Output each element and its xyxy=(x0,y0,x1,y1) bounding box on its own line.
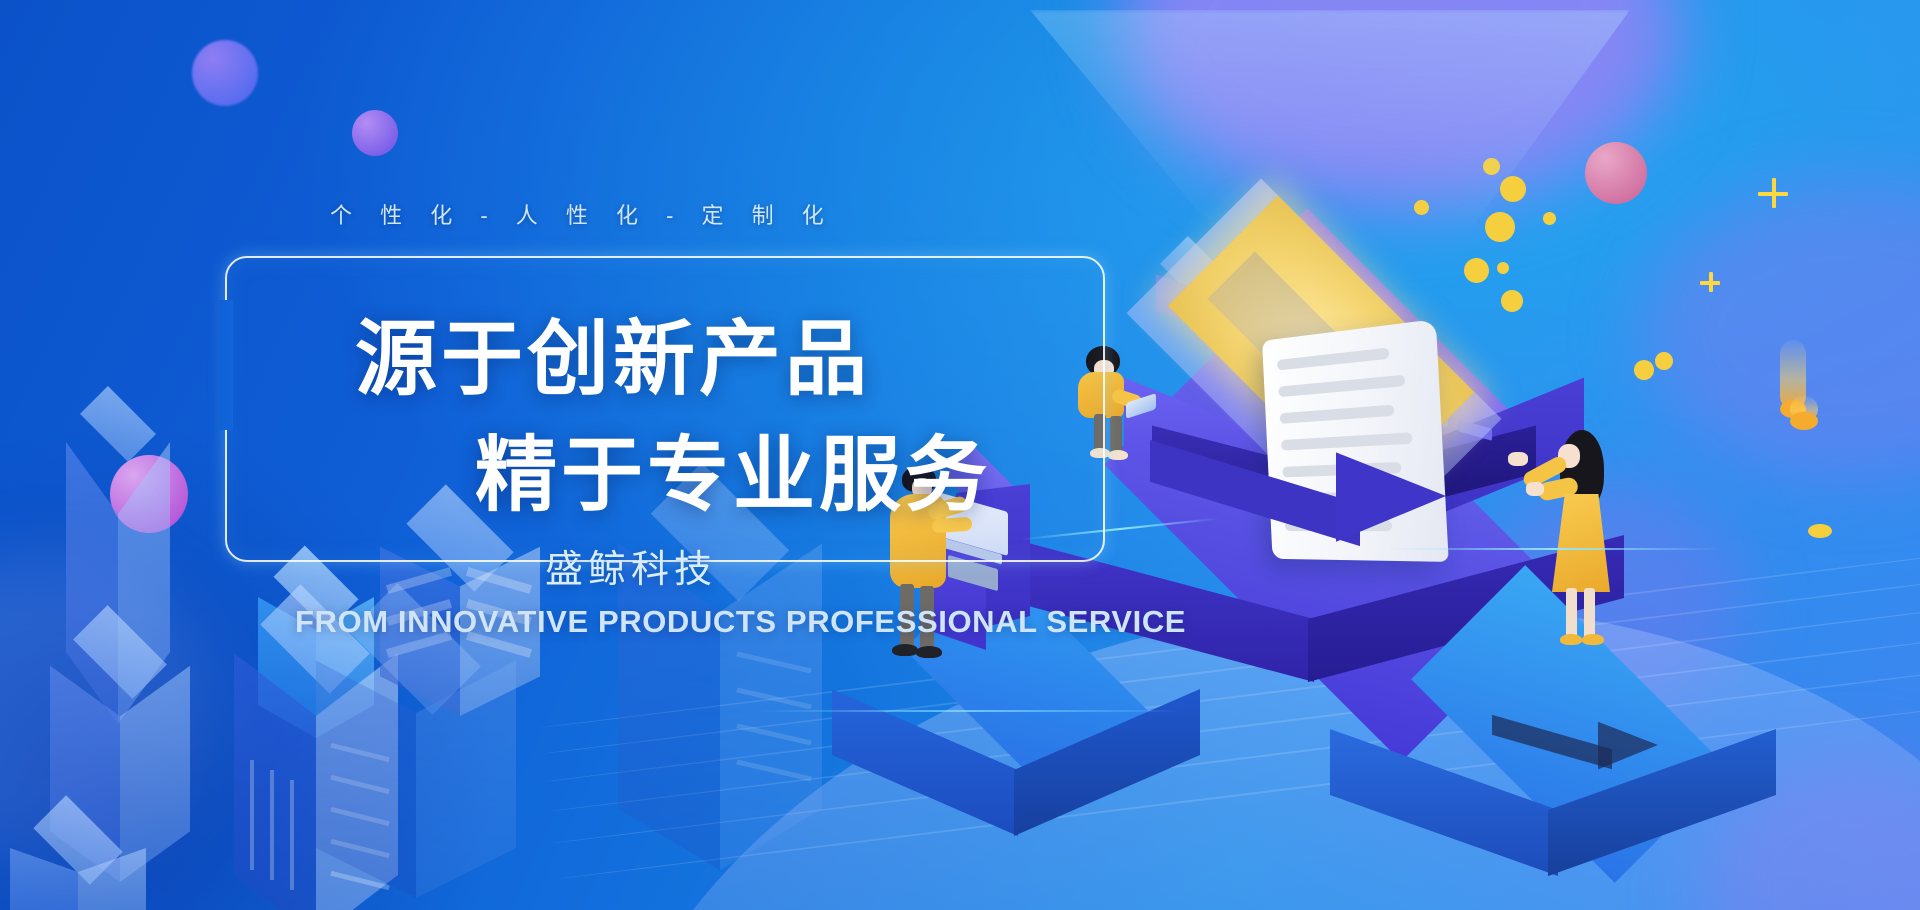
hero-copy-block: 个 性 化 - 人 性 化 - 定 制 化 源于创新产品 精于专业服务 盛鲸科技… xyxy=(0,0,1100,700)
neon-edge-line xyxy=(760,710,1180,712)
hero-banner: 个 性 化 - 人 性 化 - 定 制 化 源于创新产品 精于专业服务 盛鲸科技… xyxy=(0,0,1920,910)
tagline: 个 性 化 - 人 性 化 - 定 制 化 xyxy=(330,198,835,230)
brand-name: 盛鲸科技 xyxy=(545,538,717,593)
headline-line-2: 精于专业服务 xyxy=(475,408,991,527)
english-subtitle: FROM INNOVATIVE PRODUCTS PROFESSIONAL SE… xyxy=(295,604,1186,640)
isometric-arrow-large xyxy=(1150,436,1480,566)
headline-line-1: 源于创新产品 xyxy=(355,292,871,411)
frame-gap-left xyxy=(219,300,233,430)
neon-edge-line xyxy=(1390,548,1720,550)
woman-holding-document xyxy=(1526,428,1636,658)
building xyxy=(0,800,160,910)
isometric-arrow xyxy=(1492,710,1692,790)
